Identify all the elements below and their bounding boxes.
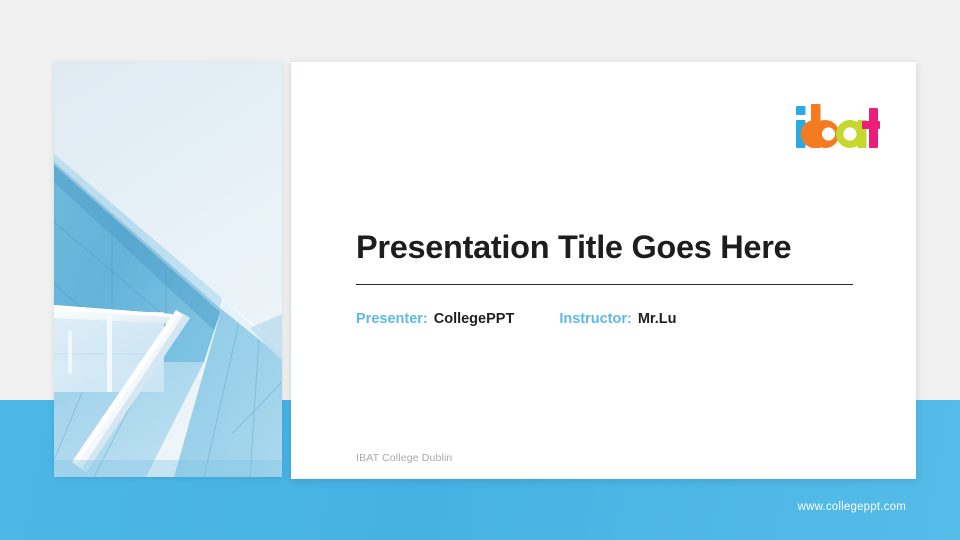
architecture-photo-art: [54, 62, 282, 477]
architecture-photo: [54, 62, 282, 477]
page-title: Presentation Title Goes Here: [356, 229, 853, 265]
title-block: Presentation Title Goes Here: [356, 229, 853, 285]
byline-instructor: Instructor: Mr.Lu: [559, 311, 676, 327]
footnote: IBAT College Dublin: [356, 452, 452, 464]
title-divider: [356, 284, 853, 285]
ibat-logo-mark: [794, 104, 880, 152]
byline-presenter: Presenter: CollegePPT: [356, 311, 514, 327]
presenter-value: CollegePPT: [434, 311, 515, 327]
ibat-logo: [794, 104, 880, 152]
logo-letter-i-dot: [796, 106, 806, 115]
slide-card: Presentation Title Goes Here Presenter: …: [291, 62, 916, 479]
instructor-value: Mr.Lu: [638, 311, 677, 327]
website-url: www.collegeppt.com: [798, 501, 906, 513]
byline: Presenter: CollegePPT Instructor: Mr.Lu: [356, 311, 676, 327]
instructor-label: Instructor:: [559, 311, 632, 327]
logo-letter-t-bar: [862, 121, 880, 129]
slide-canvas: www.collegeppt.com: [0, 0, 960, 540]
presenter-label: Presenter:: [356, 311, 428, 327]
